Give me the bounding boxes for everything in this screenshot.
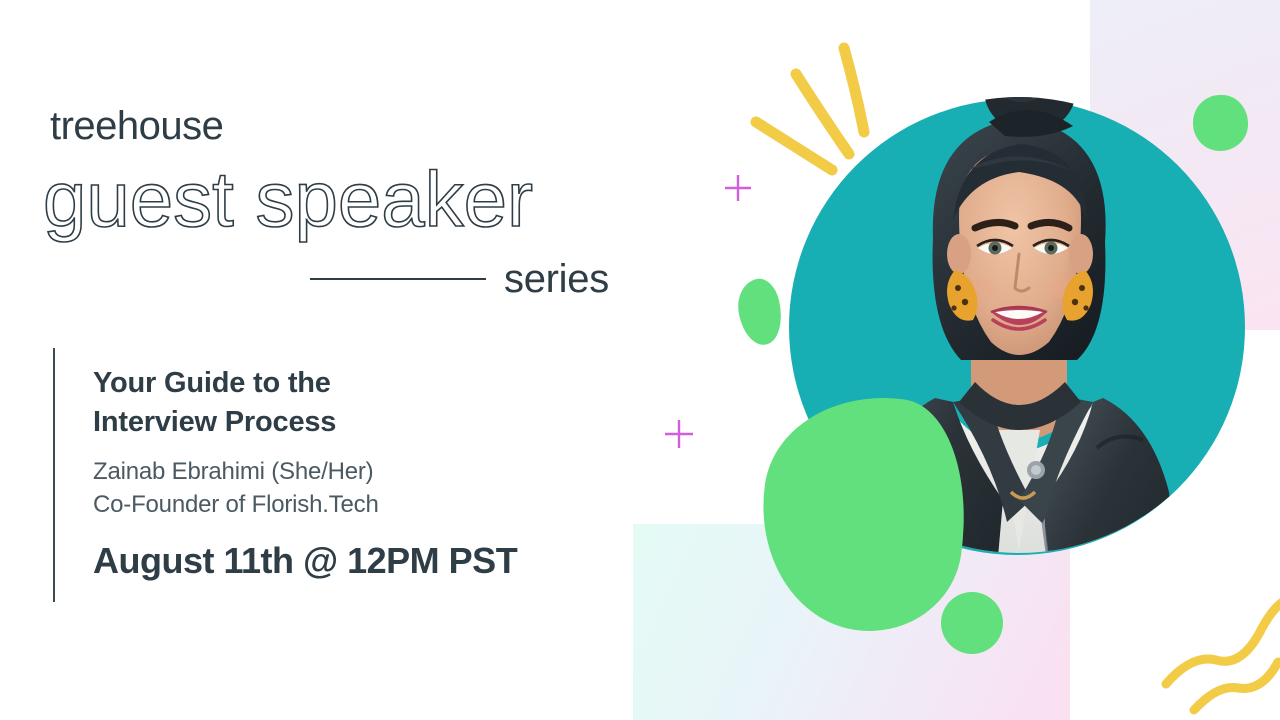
green-bean-shape xyxy=(733,275,788,348)
yellow-squiggle-icon xyxy=(1158,588,1280,720)
promo-slide: treehouse guest speaker series Your Guid… xyxy=(0,0,1280,720)
event-date-time: August 11th @ 12PM PST xyxy=(93,543,517,579)
series-row: series xyxy=(310,256,625,302)
speaker-role: Co-Founder of Florish.Tech xyxy=(93,489,517,521)
talk-title: Your Guide to the Interview Process xyxy=(93,364,517,442)
speaker-name: Zainab Ebrahimi (She/Her) xyxy=(93,456,517,488)
series-label: series xyxy=(504,259,609,299)
series-divider-rule xyxy=(310,278,486,280)
guest-speaker-headline: guest speaker xyxy=(43,160,533,238)
green-dot-shape-small xyxy=(941,592,1003,654)
event-details-block: Your Guide to the Interview Process Zain… xyxy=(53,348,517,602)
magenta-plus-icon-bottom xyxy=(662,417,696,451)
treehouse-wordmark: treehouse xyxy=(50,106,223,146)
yellow-sparkle-icon xyxy=(744,36,894,196)
